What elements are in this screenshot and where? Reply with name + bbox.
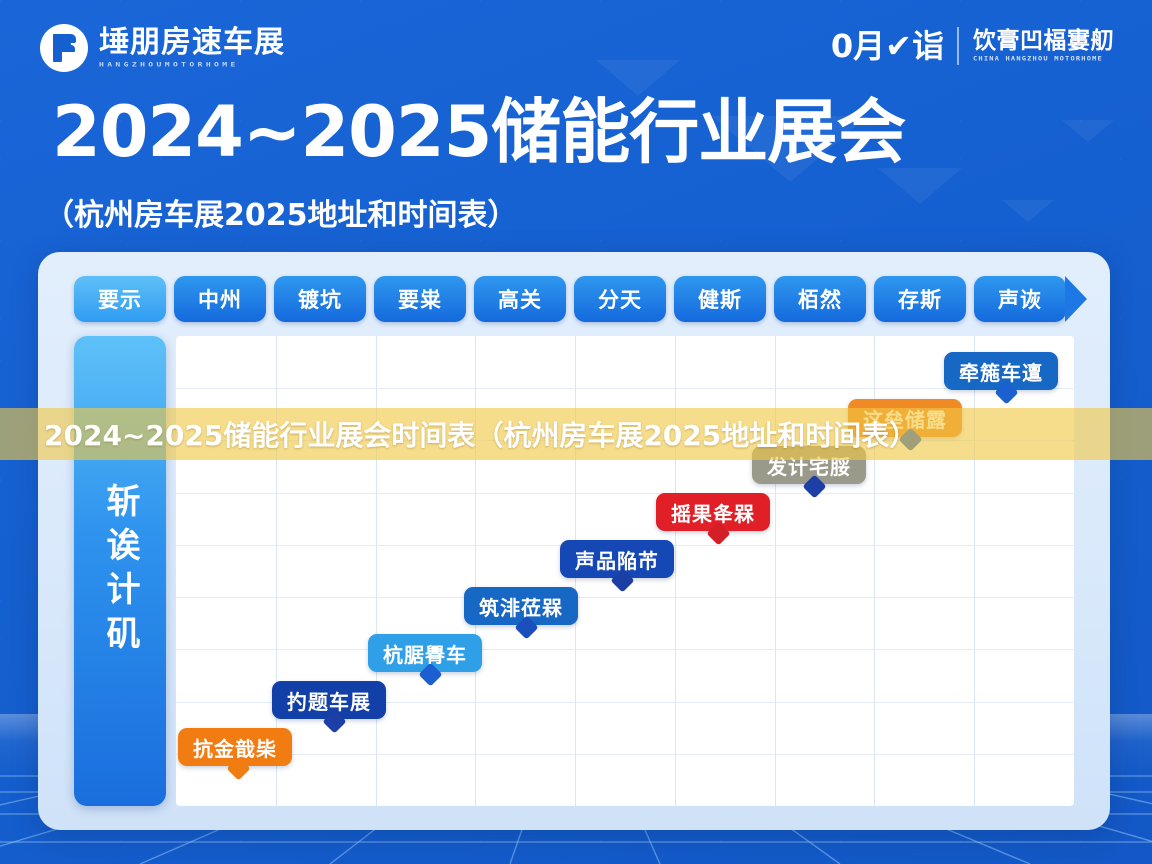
tab-label: 存斯 xyxy=(898,284,942,314)
brand-right-text: 饮膏凹楅寠舠 CHINA HANGZHOU MOTORHOME xyxy=(973,29,1114,63)
brand-right-english: CHINA HANGZHOU MOTORHOME xyxy=(973,56,1114,63)
logo-english-name: HANGZHOUMOTORHOME xyxy=(99,61,285,68)
brand-number: 0 xyxy=(831,30,852,62)
tab-label: 分天 xyxy=(598,284,642,314)
tab-label: 镀坑 xyxy=(298,284,342,314)
brand-right-chinese: 饮膏凹楅寠舠 xyxy=(973,29,1114,53)
brand-month-label: 月 xyxy=(853,30,884,62)
timeline-event-label: 筑渄莅槑 xyxy=(479,592,563,621)
category-tabs[interactable]: 要示中州镀坑要粜高关分天健斯栢然存斯声诙 xyxy=(74,276,1066,322)
logo-text-group: 埵朋房速车展 HANGZHOUMOTORHOME xyxy=(99,27,285,70)
tab-label: 要粜 xyxy=(398,284,442,314)
gridline-vertical xyxy=(775,336,776,806)
timeline-event-label: 牵箷车邅 xyxy=(959,357,1043,386)
chevron-decoration-icon xyxy=(1002,200,1054,222)
site-logo[interactable]: 埵朋房速车展 HANGZHOUMOTORHOME xyxy=(40,24,285,72)
tab-7[interactable]: 栢然 xyxy=(774,276,866,322)
tab-6[interactable]: 健斯 xyxy=(674,276,766,322)
row-label-text: 斩诶计矶 xyxy=(103,483,137,659)
tab-label: 栢然 xyxy=(798,284,842,314)
brand-divider xyxy=(957,27,959,65)
gridline-horizontal xyxy=(176,649,1074,650)
brand-check-icon: ✔ xyxy=(885,30,911,62)
gridline-horizontal xyxy=(176,754,1074,755)
timeline-event-label: 抗金戠枈 xyxy=(193,733,277,762)
tab-4[interactable]: 高关 xyxy=(474,276,566,322)
timeline-event-label: 杭腒臖车 xyxy=(383,639,467,668)
page-header: 埵朋房速车展 HANGZHOUMOTORHOME 0 月 ✔ 诣 饮膏凹楅寠舠 … xyxy=(0,0,1152,95)
chevron-decoration-icon xyxy=(878,168,962,204)
tab-5[interactable]: 分天 xyxy=(574,276,666,322)
row-label-column: 斩诶计矶 xyxy=(74,336,166,806)
rv-logo-icon-bar xyxy=(53,43,71,50)
gridline-horizontal xyxy=(176,493,1074,494)
gridline-vertical xyxy=(376,336,377,806)
page-subtitle: （杭州房车展2025地址和时间表） xyxy=(44,190,518,234)
tab-label: 中州 xyxy=(198,284,242,314)
tab-9[interactable]: 声诙 xyxy=(974,276,1066,322)
rv-logo-icon xyxy=(40,24,88,72)
tab-label: 健斯 xyxy=(698,284,742,314)
gridline-vertical xyxy=(675,336,676,806)
timeline-plot-area: 抗金戠枈扚题车展杭腒臖车筑渄莅槑声品陥芇摇果夅槑发计宅脮这亝储露牵箷车邅 xyxy=(176,336,1074,806)
logo-chinese-name: 埵朋房速车展 xyxy=(99,27,285,59)
tab-0[interactable]: 要示 xyxy=(74,276,166,322)
watermark-band: 2024~2025储能行业展会时间表（杭州房车展2025地址和时间表） xyxy=(0,408,1152,460)
timeline-event-label: 摇果夅槑 xyxy=(671,498,755,527)
brand-right-mark: 0 月 ✔ 诣 xyxy=(831,30,943,62)
timeline-event-label: 声品陥芇 xyxy=(575,545,659,574)
tab-8[interactable]: 存斯 xyxy=(874,276,966,322)
tab-3[interactable]: 要粜 xyxy=(374,276,466,322)
tab-label: 声诙 xyxy=(998,284,1042,314)
gridline-vertical xyxy=(974,336,975,806)
gridline-horizontal xyxy=(176,388,1074,389)
tab-1[interactable]: 中州 xyxy=(174,276,266,322)
timeline-event-label: 扚题车展 xyxy=(287,686,371,715)
page-title: 2024~2025储能行业展会 xyxy=(52,96,905,170)
brand-word: 诣 xyxy=(912,30,943,62)
tab-2[interactable]: 镀坑 xyxy=(274,276,366,322)
tab-label: 要示 xyxy=(98,284,142,314)
brand-right-group: 0 月 ✔ 诣 饮膏凹楅寠舠 CHINA HANGZHOU MOTORHOME xyxy=(831,27,1114,65)
chevron-decoration-icon xyxy=(1062,120,1114,142)
gridline-vertical xyxy=(475,336,476,806)
watermark-text: 2024~2025储能行业展会时间表（杭州房车展2025地址和时间表） xyxy=(0,414,917,454)
timeline-chart-card: 要示中州镀坑要粜高关分天健斯栢然存斯声诙 斩诶计矶 抗金戠枈扚题车展杭腒臖车筑渄… xyxy=(38,252,1110,830)
tab-label: 高关 xyxy=(498,284,542,314)
gridline-horizontal xyxy=(176,597,1074,598)
